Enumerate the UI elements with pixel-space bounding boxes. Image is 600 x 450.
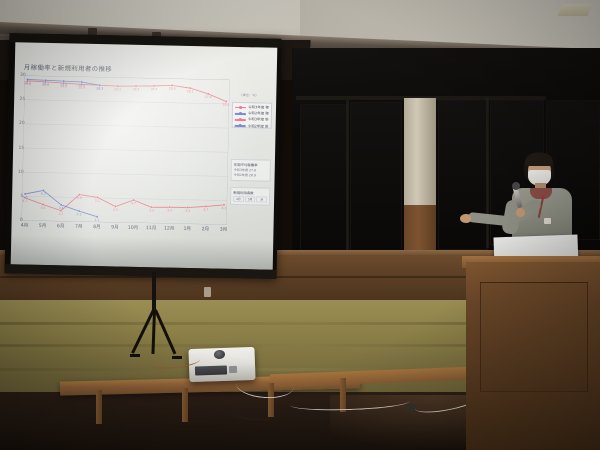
name-badge xyxy=(544,218,551,224)
legend-swatch-icon xyxy=(235,119,246,121)
note-cell-row: 4月5月計 xyxy=(233,195,267,202)
screen-surface: 月稼働率と新規利用者の推移 （単位：％） 302520151050 28.928… xyxy=(11,42,278,269)
slide-title: 月稼働率と新規利用者の推移 xyxy=(24,62,112,73)
bench-leg xyxy=(96,390,102,424)
x-axis-tick: 1月 xyxy=(183,226,191,232)
x-axis-tick: 5月 xyxy=(39,223,47,229)
svg-text:4.7: 4.7 xyxy=(131,201,136,205)
svg-text:5.6: 5.6 xyxy=(77,196,82,200)
chart-legend: 令和3年度 稼働率令和2年度 稼働率令和3年度 新規令和2年度 新規 xyxy=(232,102,273,129)
svg-text:28.1: 28.1 xyxy=(187,89,194,93)
window-panel xyxy=(300,104,348,264)
svg-text:2.2: 2.2 xyxy=(58,212,63,216)
svg-text:3.4: 3.4 xyxy=(185,209,190,213)
svg-text:28.3: 28.3 xyxy=(132,87,139,91)
x-axis-tick: 12月 xyxy=(164,225,175,231)
note-line: 令和2年度 28.9 xyxy=(234,171,268,177)
hand-holding-microphone xyxy=(516,208,525,217)
svg-text:3.4: 3.4 xyxy=(59,206,64,210)
note-title: 新規利用者数 xyxy=(233,189,267,195)
svg-text:3.4: 3.4 xyxy=(167,208,172,212)
x-axis-tick: 4月 xyxy=(21,222,29,228)
legend-label: 令和2年度 新規 xyxy=(248,124,269,129)
projector-cable-port xyxy=(229,366,237,373)
svg-text:4.1: 4.1 xyxy=(221,206,226,210)
x-axis-tick: 10月 xyxy=(128,225,139,231)
legend-label: 令和2年度 稼働率 xyxy=(248,112,269,117)
svg-text:27.0: 27.0 xyxy=(205,95,212,99)
microphone-head xyxy=(512,182,520,190)
x-axis-tick: 8月 xyxy=(93,224,101,230)
svg-text:29.2: 29.2 xyxy=(24,81,31,85)
svg-text:3.3: 3.3 xyxy=(113,208,118,212)
svg-text:28.9: 28.9 xyxy=(78,83,85,87)
svg-text:3.3: 3.3 xyxy=(149,208,154,212)
svg-text:29.1: 29.1 xyxy=(42,81,49,85)
screen-tripod-post xyxy=(152,272,156,314)
wall-pillar xyxy=(404,98,436,220)
photo-scene: 月稼働率と新規利用者の推移 （単位：％） 302520151050 28.928… xyxy=(0,0,600,450)
window-frame xyxy=(486,98,489,248)
x-axis-tick: 2月 xyxy=(202,226,210,232)
pointing-hand xyxy=(460,214,471,223)
slide-content: 月稼働率と新規利用者の推移 （単位：％） 302520151050 28.928… xyxy=(11,42,278,269)
x-axis-tick: 11月 xyxy=(146,225,157,231)
tripod-foot xyxy=(130,354,140,357)
hair-fringe xyxy=(525,153,553,166)
projector-ports xyxy=(195,365,227,375)
podium-front-panel xyxy=(480,282,588,392)
ceiling-lamp xyxy=(558,4,593,16)
legend-swatch-icon xyxy=(235,113,246,115)
note-cell: 4月 xyxy=(233,195,244,201)
x-axis-tick: 9月 xyxy=(111,224,119,230)
x-axis-tick: 7月 xyxy=(75,224,83,230)
svg-text:28.3: 28.3 xyxy=(96,86,103,90)
svg-text:3.4: 3.4 xyxy=(40,206,45,210)
x-axis-labels: 4月5月6月7月8月9月10月11月12月1月2月3月 xyxy=(21,222,226,238)
bench-leg xyxy=(182,388,188,422)
x-axis-tick: 6月 xyxy=(57,223,65,229)
legend-swatch-icon xyxy=(235,125,246,127)
legend-swatch-icon xyxy=(235,107,246,109)
window-panel xyxy=(438,100,488,250)
legend-item: 令和2年度 新規 xyxy=(235,123,269,129)
svg-text:28.4: 28.4 xyxy=(151,87,158,91)
wall-outlet xyxy=(204,287,211,297)
svg-text:5.1: 5.1 xyxy=(95,199,100,203)
note-cell: 計 xyxy=(256,196,267,202)
legend-label: 令和3年度 新規 xyxy=(248,118,269,123)
x-axis-tick: 3月 xyxy=(220,227,228,233)
svg-text:28.2: 28.2 xyxy=(114,87,121,91)
svg-text:1.1: 1.1 xyxy=(95,218,100,222)
svg-text:6.3: 6.3 xyxy=(41,192,46,196)
slide-unit-note: （単位：％） xyxy=(239,92,258,97)
projection-screen: 月稼働率と新規利用者の推移 （単位：％） 302520151050 28.928… xyxy=(5,33,282,279)
chart-svg: 28.928.828.628.428.328.228.328.428.628.1… xyxy=(22,76,230,225)
legend-label: 令和3年度 稼働率 xyxy=(248,105,269,110)
svg-text:2.2: 2.2 xyxy=(77,212,82,216)
svg-text:29.0: 29.0 xyxy=(60,82,67,86)
annual-average-note: 年間平均稼働率令和3年度 27.8令和2年度 28.9 xyxy=(230,159,270,182)
svg-text:25.5: 25.5 xyxy=(223,103,230,107)
svg-text:3.7: 3.7 xyxy=(203,208,208,212)
new-users-note: 新規利用者数4月5月計 xyxy=(230,187,270,206)
svg-text:28.6: 28.6 xyxy=(169,86,176,90)
window-frame xyxy=(346,100,349,265)
note-cell: 5月 xyxy=(245,196,256,202)
svg-text:4.7: 4.7 xyxy=(23,199,28,203)
svg-text:5.5: 5.5 xyxy=(23,195,28,199)
window-panel xyxy=(350,102,402,264)
chart-plot-area: 28.928.828.628.428.328.228.328.428.628.1… xyxy=(22,76,230,225)
